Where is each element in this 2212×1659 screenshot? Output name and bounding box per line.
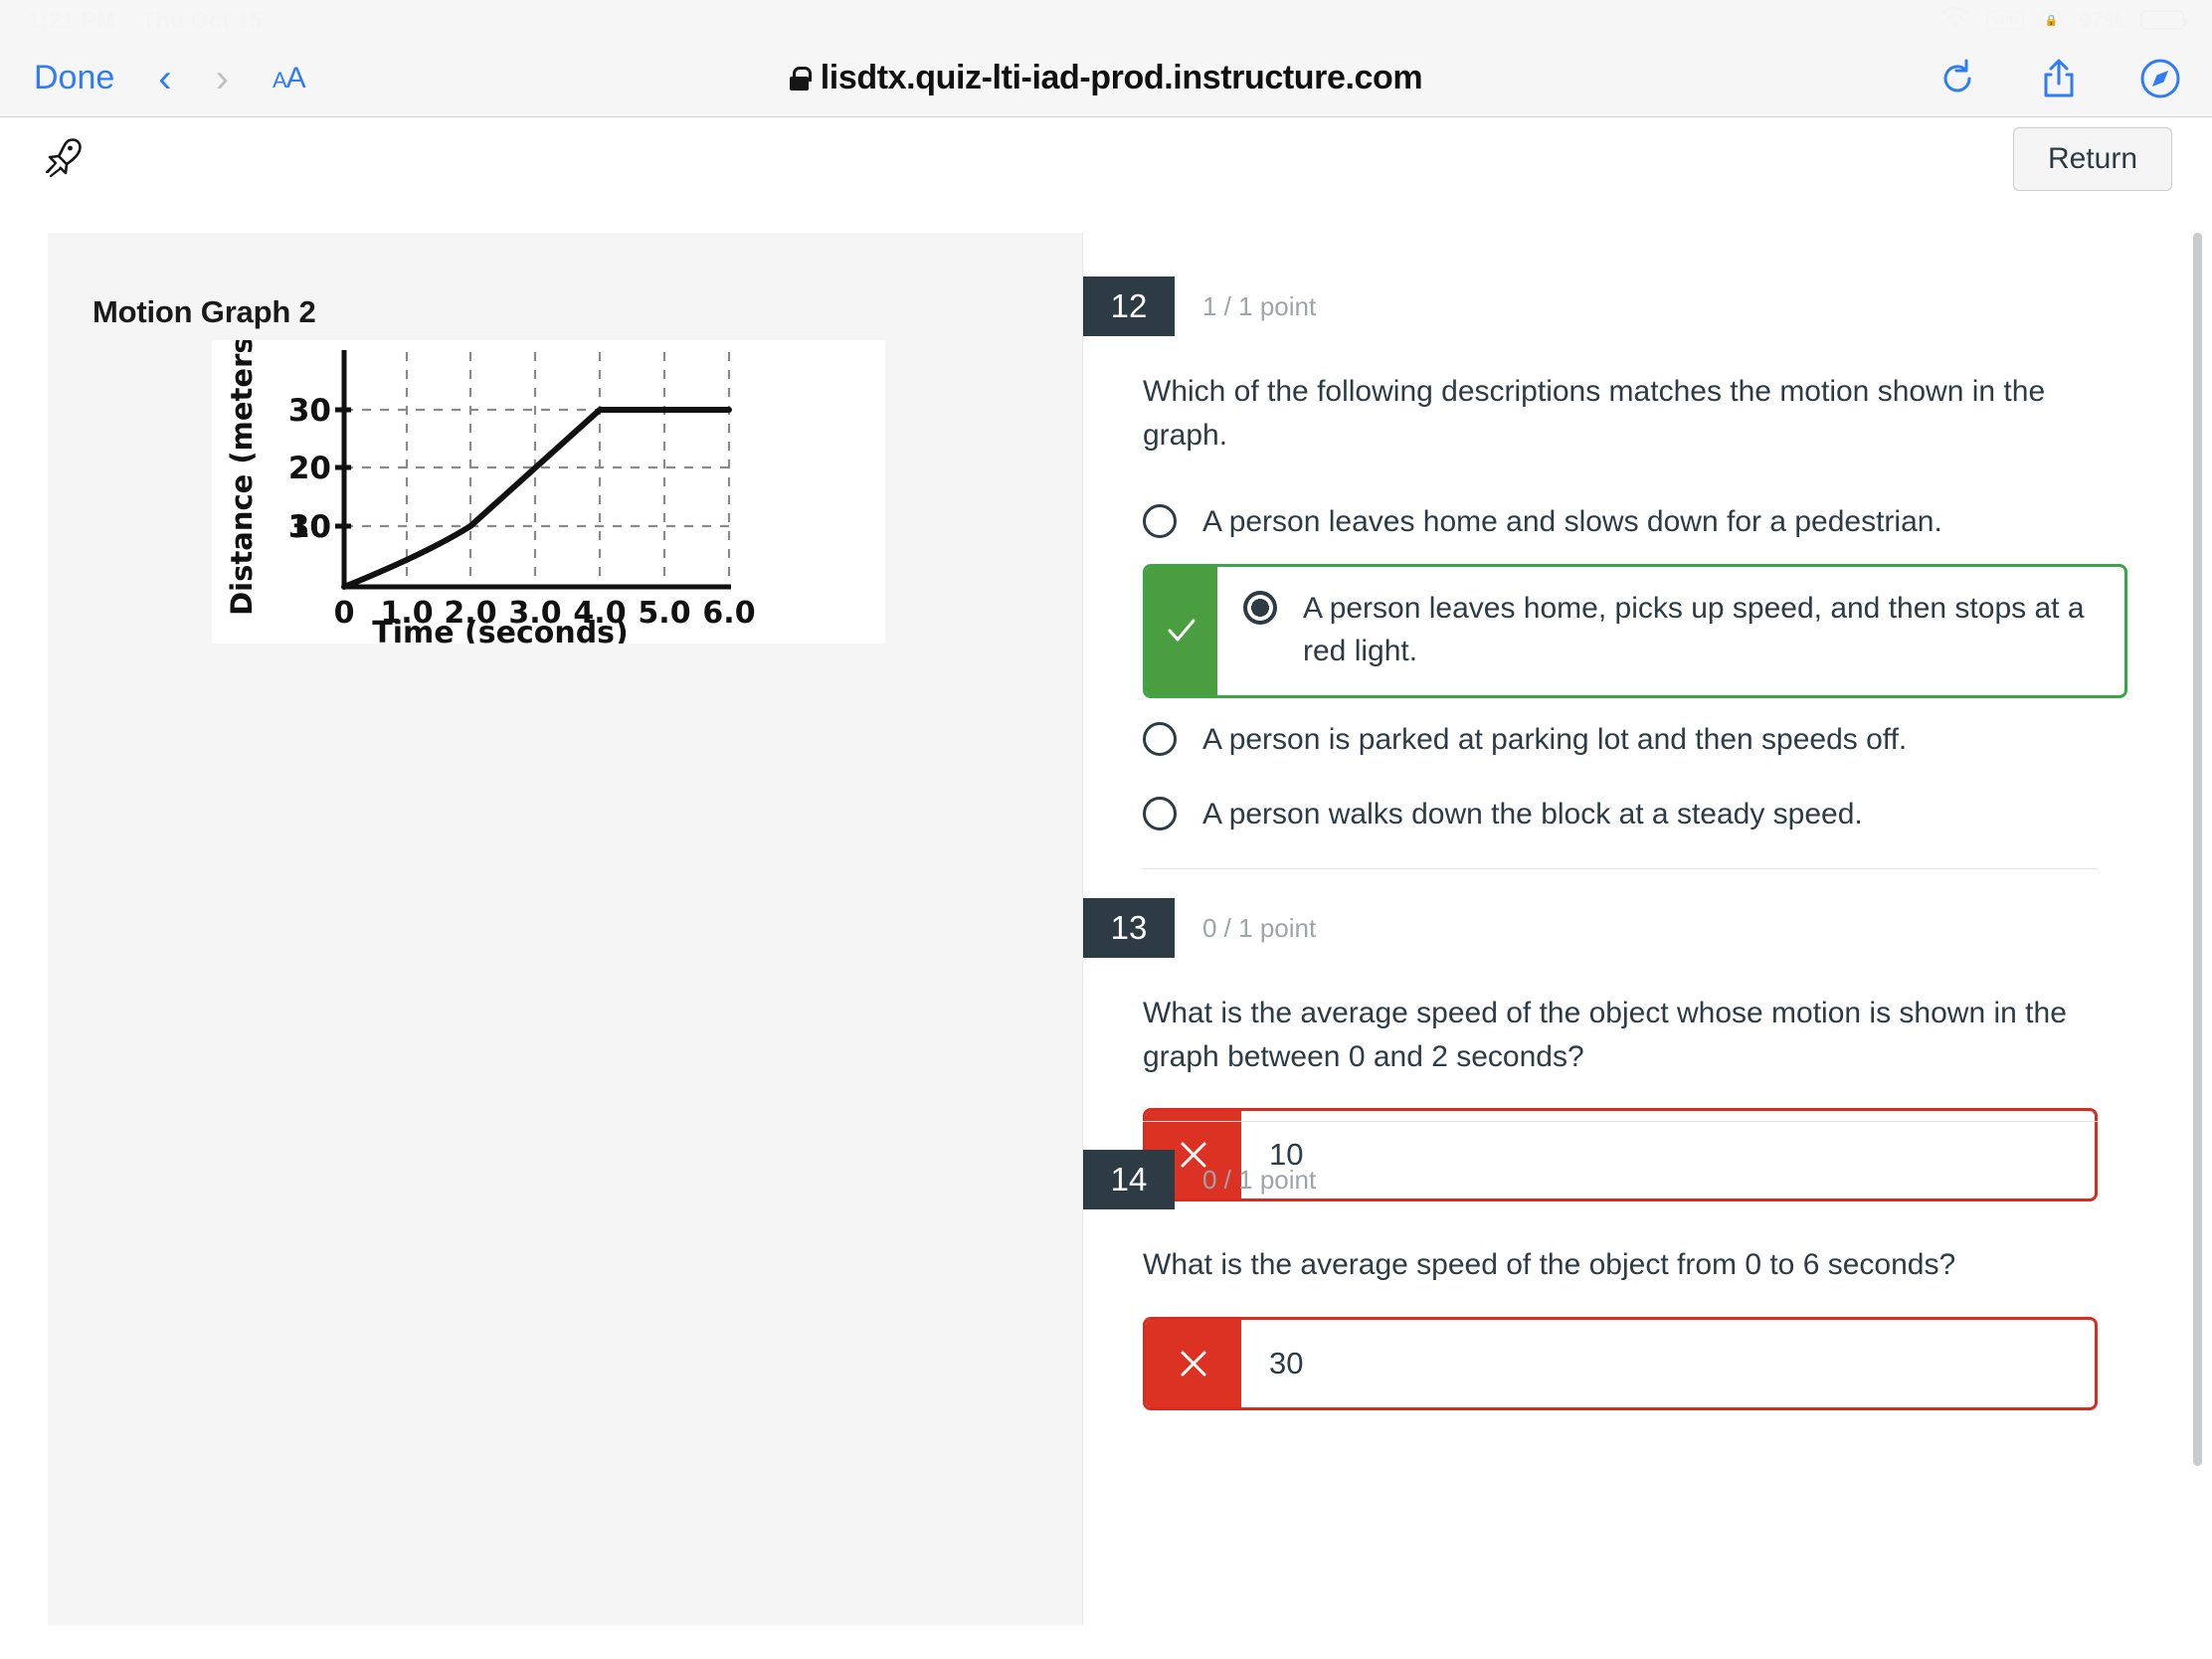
question-block: 12 1 / 1 point Which of the following de… bbox=[1083, 276, 2149, 852]
question-number: 13 bbox=[1083, 898, 1175, 958]
chevron-right-icon: › bbox=[216, 59, 229, 98]
address-bar[interactable]: lisdtx.quiz-lti-iad-prod.instructure.com bbox=[0, 40, 2212, 116]
safari-compass-icon[interactable] bbox=[2138, 57, 2182, 100]
url-text: lisdtx.quiz-lti-iad-prod.instructure.com bbox=[821, 59, 1422, 97]
svg-text:0: 0 bbox=[334, 596, 355, 631]
page-header-strip: Return bbox=[0, 118, 2212, 200]
question-block: 14 0 / 1 point What is the average speed… bbox=[1083, 1150, 2149, 1410]
svg-text:20: 20 bbox=[288, 451, 331, 486]
radio-button-selected-icon[interactable] bbox=[1243, 591, 1277, 625]
ios-status-bar: 1:21 PM Thu Oct 15 VPN 🔒 97% bbox=[0, 0, 2212, 40]
wifi-icon bbox=[1940, 5, 1970, 35]
toolbar-left-group: Done ‹ › AA bbox=[34, 59, 305, 98]
answer-option-label: A person leaves home and slows down for … bbox=[1202, 500, 1942, 544]
answer-field-row[interactable]: 30 bbox=[1143, 1317, 2098, 1410]
question-points: 0 / 1 point bbox=[1202, 1165, 1316, 1196]
correct-indicator bbox=[1146, 567, 1217, 695]
question-header: 13 0 / 1 point bbox=[1083, 898, 2149, 958]
status-time: 1:21 PM bbox=[28, 7, 115, 34]
question-number: 12 bbox=[1083, 276, 1175, 336]
quiz-content: Motion Graph 2 bbox=[0, 200, 2212, 1659]
question-points: 1 / 1 point bbox=[1202, 291, 1316, 322]
incorrect-indicator bbox=[1146, 1320, 1241, 1407]
answer-option-label: A person leaves home, picks up speed, an… bbox=[1303, 587, 2099, 673]
radio-button-icon[interactable] bbox=[1143, 722, 1177, 756]
toolbar-right-group bbox=[1935, 57, 2182, 100]
share-icon[interactable] bbox=[2037, 57, 2081, 100]
question-header: 12 1 / 1 point bbox=[1083, 276, 2149, 336]
question-text: What is the average speed of the object … bbox=[1143, 1243, 2068, 1287]
stimulus-title: Motion Graph 2 bbox=[92, 294, 316, 330]
answer-option-label: A person is parked at parking lot and th… bbox=[1202, 718, 1907, 762]
answer-options: A person leaves home and slows down for … bbox=[1143, 484, 2127, 852]
svg-text:Distance (meters): Distance (meters) bbox=[225, 340, 259, 616]
svg-text:30: 30 bbox=[288, 393, 331, 429]
question-divider bbox=[1143, 868, 2098, 869]
status-bar-right: VPN 🔒 97% bbox=[1940, 5, 2184, 35]
battery-icon bbox=[2140, 10, 2184, 30]
rocket-icon[interactable] bbox=[40, 132, 90, 187]
reload-icon[interactable] bbox=[1935, 57, 1979, 100]
safari-toolbar: Done ‹ › AA lisdtx.quiz-lti-iad-prod.ins… bbox=[0, 40, 2212, 117]
check-icon bbox=[1163, 612, 1200, 649]
rotation-lock-icon: 🔒 bbox=[2040, 9, 2062, 31]
x-icon bbox=[1176, 1346, 1211, 1382]
vpn-badge: VPN bbox=[1986, 10, 2025, 30]
vertical-scrollbar[interactable] bbox=[2193, 233, 2202, 1466]
chevron-left-icon[interactable]: ‹ bbox=[158, 59, 171, 98]
battery-percent: 97% bbox=[2078, 7, 2124, 34]
svg-text:5.0: 5.0 bbox=[638, 596, 690, 631]
status-bar-left: 1:21 PM Thu Oct 15 bbox=[28, 7, 262, 34]
motion-graph-image: 30 30 20 10 Distance (meters) 0 1.0 2.0 … bbox=[212, 340, 885, 644]
done-button[interactable]: Done bbox=[34, 59, 114, 97]
answer-option-correct[interactable]: A person leaves home, picks up speed, an… bbox=[1143, 564, 2127, 698]
question-text: What is the average speed of the object … bbox=[1143, 992, 2068, 1078]
questions-pane: 12 1 / 1 point Which of the following de… bbox=[1082, 233, 2148, 1625]
return-button[interactable]: Return bbox=[2013, 127, 2172, 191]
text-size-button[interactable]: AA bbox=[273, 62, 305, 95]
stimulus-pane: Motion Graph 2 bbox=[48, 233, 1082, 1625]
question-header: 14 0 / 1 point bbox=[1083, 1150, 2149, 1209]
answer-option[interactable]: A person walks down the block at a stead… bbox=[1143, 777, 2127, 852]
radio-button-icon[interactable] bbox=[1143, 504, 1177, 538]
svg-text:10: 10 bbox=[288, 509, 331, 545]
svg-text:Time (seconds): Time (seconds) bbox=[372, 616, 629, 644]
answer-option[interactable]: A person leaves home and slows down for … bbox=[1143, 484, 2127, 560]
question-number: 14 bbox=[1083, 1150, 1175, 1209]
question-points: 0 / 1 point bbox=[1202, 913, 1316, 944]
status-date: Thu Oct 15 bbox=[141, 7, 262, 34]
radio-button-icon[interactable] bbox=[1143, 797, 1177, 830]
lock-icon bbox=[790, 67, 809, 91]
distance-time-chart: 30 30 20 10 Distance (meters) 0 1.0 2.0 … bbox=[212, 340, 885, 644]
question-divider bbox=[1143, 1121, 2098, 1122]
answer-option-label: A person walks down the block at a stead… bbox=[1202, 793, 1863, 836]
question-text: Which of the following descriptions matc… bbox=[1143, 370, 2068, 457]
answer-option[interactable]: A person is parked at parking lot and th… bbox=[1143, 702, 2127, 778]
answer-value[interactable]: 30 bbox=[1241, 1320, 2095, 1407]
svg-text:6.0: 6.0 bbox=[702, 596, 755, 631]
